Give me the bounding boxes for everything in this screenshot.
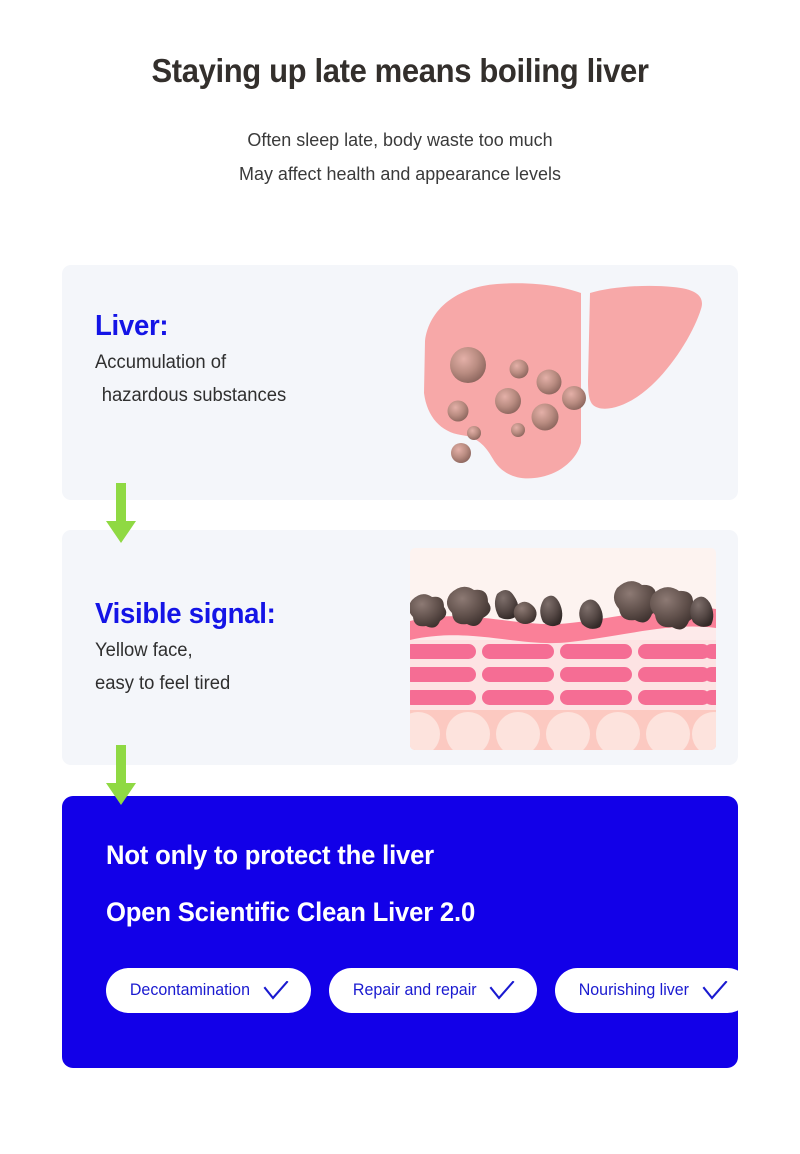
check-icon bbox=[702, 981, 728, 1001]
collagen-fiber-group bbox=[410, 644, 716, 705]
liver-toxin-deposit bbox=[450, 347, 486, 383]
arrow-down-icon bbox=[105, 745, 137, 807]
card-liver-line-2: hazardous substances bbox=[95, 380, 286, 413]
card-liver-heading: Liver: bbox=[95, 310, 282, 343]
liver-toxin-deposit bbox=[495, 388, 521, 414]
benefit-pill-row: Decontamination Repair and repair Nouris… bbox=[106, 968, 694, 1013]
card-signal-heading: Visible signal: bbox=[95, 598, 275, 631]
check-icon bbox=[489, 981, 515, 1001]
page-header: Staying up late means boiling liver Ofte… bbox=[0, 0, 800, 191]
cta-panel: Not only to protect the liver Open Scien… bbox=[62, 796, 738, 1068]
page-subtitle: Often sleep late, body waste too much Ma… bbox=[12, 123, 788, 191]
benefit-pill-label: Decontamination bbox=[130, 981, 250, 1000]
liver-right-lobe bbox=[588, 286, 702, 409]
card-signal-line-1: Yellow face, bbox=[95, 635, 279, 668]
benefit-pill-nourishing[interactable]: Nourishing liver bbox=[555, 968, 750, 1013]
card-signal-line-2: easy to feel tired bbox=[95, 668, 279, 701]
cta-heading-1: Not only to protect the liver bbox=[106, 840, 665, 871]
liver-toxin-deposit bbox=[467, 426, 481, 440]
liver-toxin-deposit bbox=[448, 401, 469, 422]
liver-toxin-deposit bbox=[532, 404, 559, 431]
skin-cross-section-with-toxins-illustration bbox=[410, 548, 716, 750]
benefit-pill-label: Repair and repair bbox=[353, 981, 477, 1000]
benefit-pill-label: Nourishing liver bbox=[579, 981, 689, 1000]
liver-toxin-deposit bbox=[537, 370, 562, 395]
cta-heading-2: Open Scientific Clean Liver 2.0 bbox=[106, 897, 665, 928]
liver-toxin-deposit bbox=[511, 423, 525, 437]
subtitle-line-2: May affect health and appearance levels bbox=[12, 157, 788, 191]
card-signal-text: Visible signal: Yellow face, easy to fee… bbox=[95, 598, 285, 700]
card-liver-line-1: Accumulation of bbox=[95, 347, 286, 380]
check-icon bbox=[263, 981, 289, 1001]
benefit-pill-repair[interactable]: Repair and repair bbox=[329, 968, 538, 1013]
card-liver-text: Liver: Accumulation of hazardous substan… bbox=[95, 310, 292, 412]
arrow-down-icon bbox=[105, 483, 137, 545]
benefit-pill-decontamination[interactable]: Decontamination bbox=[106, 968, 311, 1013]
page-title: Staying up late means boiling liver bbox=[24, 52, 776, 90]
subtitle-line-1: Often sleep late, body waste too much bbox=[12, 123, 788, 157]
liver-toxin-deposit bbox=[510, 360, 529, 379]
card-liver: Liver: Accumulation of hazardous substan… bbox=[62, 265, 738, 500]
liver-toxin-deposit bbox=[562, 386, 586, 410]
liver-with-toxin-deposits-illustration bbox=[405, 273, 725, 495]
liver-toxin-deposit bbox=[451, 443, 471, 463]
fat-lobule-group bbox=[410, 712, 716, 750]
card-visible-signal: Visible signal: Yellow face, easy to fee… bbox=[62, 530, 738, 765]
